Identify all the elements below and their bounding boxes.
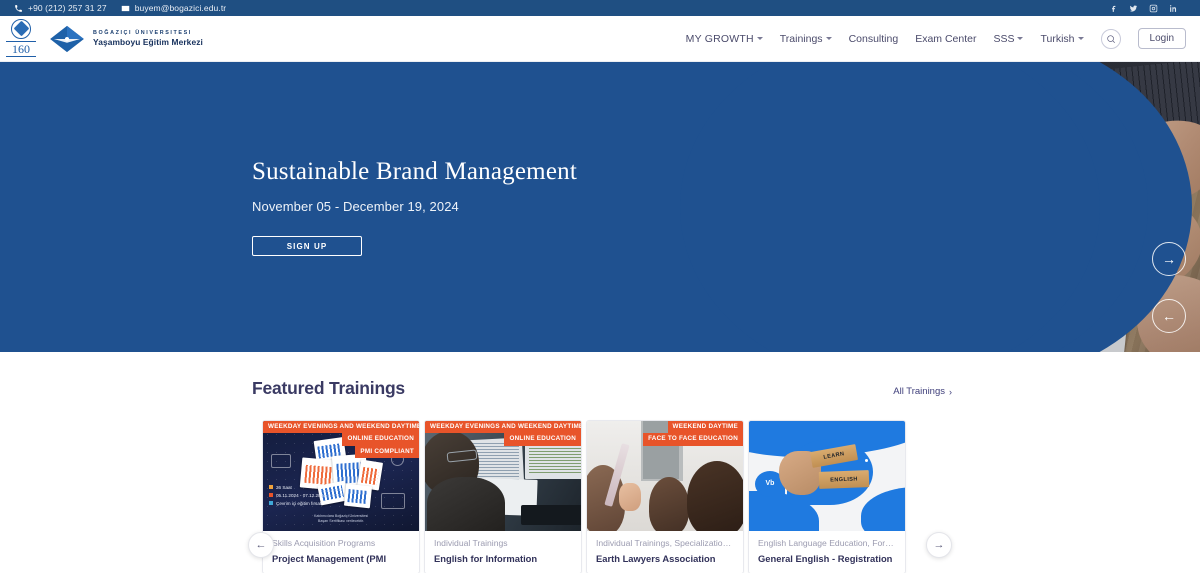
card-category: Individual Trainings bbox=[434, 538, 572, 548]
page-title: Featured Trainings bbox=[252, 378, 405, 399]
badge: ONLINE EDUCATION bbox=[342, 433, 419, 445]
all-trainings-label: All Trainings bbox=[893, 386, 945, 397]
carousel-prev-button[interactable]: ← bbox=[248, 532, 274, 558]
card-badges: WEEKDAY EVENINGS AND WEEKEND DAYTIME ONL… bbox=[263, 421, 419, 458]
nav-label: Turkish bbox=[1040, 33, 1074, 45]
card-image: WEEKEND DAYTIME FACE TO FACE EDUCATION bbox=[587, 421, 743, 531]
logo-university-name: Boğaziçi Üniversitesi bbox=[93, 30, 203, 37]
card-body: Individual Trainings English for Informa… bbox=[425, 531, 581, 573]
phone-number: +90 (212) 257 31 27 bbox=[28, 3, 107, 13]
training-card[interactable]: 36 Saat 05.11.2024 - 07.12.2024 Çevrim i… bbox=[262, 420, 420, 573]
card-image: 36 Saat 05.11.2024 - 07.12.2024 Çevrim i… bbox=[263, 421, 419, 531]
hero-prev-arrow-button[interactable]: ← bbox=[1152, 299, 1186, 333]
card-body: English Language Education, Foreig... Ge… bbox=[749, 531, 905, 573]
training-card[interactable]: WEEKDAY EVENINGS AND WEEKEND DAYTIME ONL… bbox=[424, 420, 582, 573]
linkedin-icon[interactable] bbox=[1169, 4, 1178, 13]
search-button[interactable] bbox=[1101, 29, 1121, 49]
hero-signup-button[interactable]: SIGN UP bbox=[252, 236, 362, 256]
card-body: Individual Trainings, Specialization... … bbox=[587, 531, 743, 573]
diamond-logo-icon bbox=[48, 24, 86, 54]
card-title: General English - Registration bbox=[758, 553, 896, 564]
logo-center-name: Yaşamboyu Eğitim Merkezi bbox=[93, 37, 203, 48]
nav-item-trainings[interactable]: Trainings bbox=[780, 33, 832, 45]
nav-label: SSS bbox=[993, 33, 1014, 45]
mail-icon bbox=[121, 4, 130, 13]
top-contact-bar: +90 (212) 257 31 27 buyem@bogazici.edu.t… bbox=[0, 0, 1200, 16]
card-body: Skills Acquisition Programs Project Mana… bbox=[263, 531, 419, 573]
hero-content: Sustainable Brand Management November 05… bbox=[252, 62, 577, 352]
featured-trainings-section: Featured Trainings All Trainings › ← → bbox=[0, 352, 1200, 573]
card-poster-hours: 36 Saat bbox=[276, 485, 292, 490]
card-title: Project Management (PMI bbox=[272, 553, 410, 564]
badge: PMI COMPLIANT bbox=[355, 446, 419, 458]
card-category: Individual Trainings, Specialization... bbox=[596, 538, 734, 548]
phone-contact[interactable]: +90 (212) 257 31 27 bbox=[14, 3, 107, 13]
card-poster-footer-line2: Başarı Sertifikası verilecektir. bbox=[263, 519, 419, 525]
login-button[interactable]: Login bbox=[1138, 28, 1186, 49]
featured-header: Featured Trainings All Trainings › bbox=[252, 378, 952, 399]
anniversary-seal-icon: 160 bbox=[6, 19, 36, 59]
chevron-down-icon bbox=[1078, 37, 1084, 40]
badge: ONLINE EDUCATION bbox=[504, 433, 581, 445]
chevron-down-icon bbox=[757, 37, 763, 40]
hero-banner: Sustainable Brand Management November 05… bbox=[0, 62, 1200, 352]
card-badges: WEEKDAY EVENINGS AND WEEKEND DAYTIME ONL… bbox=[425, 421, 581, 446]
card-badges: WEEKEND DAYTIME FACE TO FACE EDUCATION bbox=[587, 421, 743, 446]
nav-item-sss[interactable]: SSS bbox=[993, 33, 1023, 45]
card-title: Earth Lawyers Association bbox=[596, 553, 734, 564]
nav-item-my-growth[interactable]: MY GROWTH bbox=[686, 33, 763, 45]
chevron-down-icon bbox=[1017, 37, 1023, 40]
phone-icon bbox=[14, 4, 23, 13]
chevron-right-icon: › bbox=[949, 387, 952, 397]
badge: FACE TO FACE EDUCATION bbox=[643, 433, 743, 445]
card-poster-word-english: ENGLISH bbox=[819, 470, 870, 489]
nav-label: MY GROWTH bbox=[686, 33, 754, 45]
seal-number: 160 bbox=[6, 41, 36, 57]
brand-logo[interactable]: 160 Boğaziçi Üniversitesi Yaşamboyu Eğit… bbox=[6, 19, 203, 59]
instagram-icon[interactable] bbox=[1149, 4, 1158, 13]
card-title: English for Information bbox=[434, 553, 572, 564]
twitter-icon[interactable] bbox=[1129, 4, 1138, 13]
card-category: Skills Acquisition Programs bbox=[272, 538, 410, 548]
nav-item-exam-center[interactable]: Exam Center bbox=[915, 33, 976, 45]
site-header: 160 Boğaziçi Üniversitesi Yaşamboyu Eğit… bbox=[0, 16, 1200, 62]
trainings-carousel: ← → bbox=[262, 420, 938, 573]
facebook-icon[interactable] bbox=[1109, 4, 1118, 13]
carousel-next-button[interactable]: → bbox=[926, 532, 952, 558]
email-contact[interactable]: buyem@bogazici.edu.tr bbox=[121, 3, 227, 13]
nav-label: Exam Center bbox=[915, 33, 976, 45]
card-category: English Language Education, Foreig... bbox=[758, 538, 896, 548]
main-navigation: MY GROWTH Trainings Consulting Exam Cent… bbox=[686, 28, 1186, 49]
training-card[interactable]: Vb LEARN ENGLISH English Language Educat… bbox=[748, 420, 906, 573]
badge: WEEKEND DAYTIME bbox=[668, 421, 743, 433]
nav-item-language-turkish[interactable]: Turkish bbox=[1040, 33, 1083, 45]
nav-label: Consulting bbox=[849, 33, 899, 45]
badge: WEEKDAY EVENINGS AND WEEKEND DAYTIME bbox=[263, 421, 419, 433]
card-poster-note: Çevrim içi eğitim fırsatı bbox=[276, 501, 322, 506]
card-photo-art: Vb LEARN ENGLISH bbox=[749, 421, 905, 531]
all-trainings-link[interactable]: All Trainings › bbox=[893, 386, 952, 397]
card-image: Vb LEARN ENGLISH bbox=[749, 421, 905, 531]
email-address: buyem@bogazici.edu.tr bbox=[135, 3, 227, 13]
badge: WEEKDAY EVENINGS AND WEEKEND DAYTIME bbox=[425, 421, 581, 433]
nav-item-consulting[interactable]: Consulting bbox=[849, 33, 899, 45]
search-icon bbox=[1106, 34, 1116, 44]
hero-next-arrow-button[interactable]: → bbox=[1152, 242, 1186, 276]
training-card[interactable]: WEEKEND DAYTIME FACE TO FACE EDUCATION I… bbox=[586, 420, 744, 573]
card-image: WEEKDAY EVENINGS AND WEEKEND DAYTIME ONL… bbox=[425, 421, 581, 531]
hero-date-range: November 05 - December 19, 2024 bbox=[252, 199, 577, 214]
chevron-down-icon bbox=[826, 37, 832, 40]
card-poster-dates: 05.11.2024 - 07.12.2024 bbox=[276, 493, 326, 498]
nav-label: Trainings bbox=[780, 33, 823, 45]
hero-title: Sustainable Brand Management bbox=[252, 158, 577, 186]
social-links bbox=[1109, 4, 1186, 13]
